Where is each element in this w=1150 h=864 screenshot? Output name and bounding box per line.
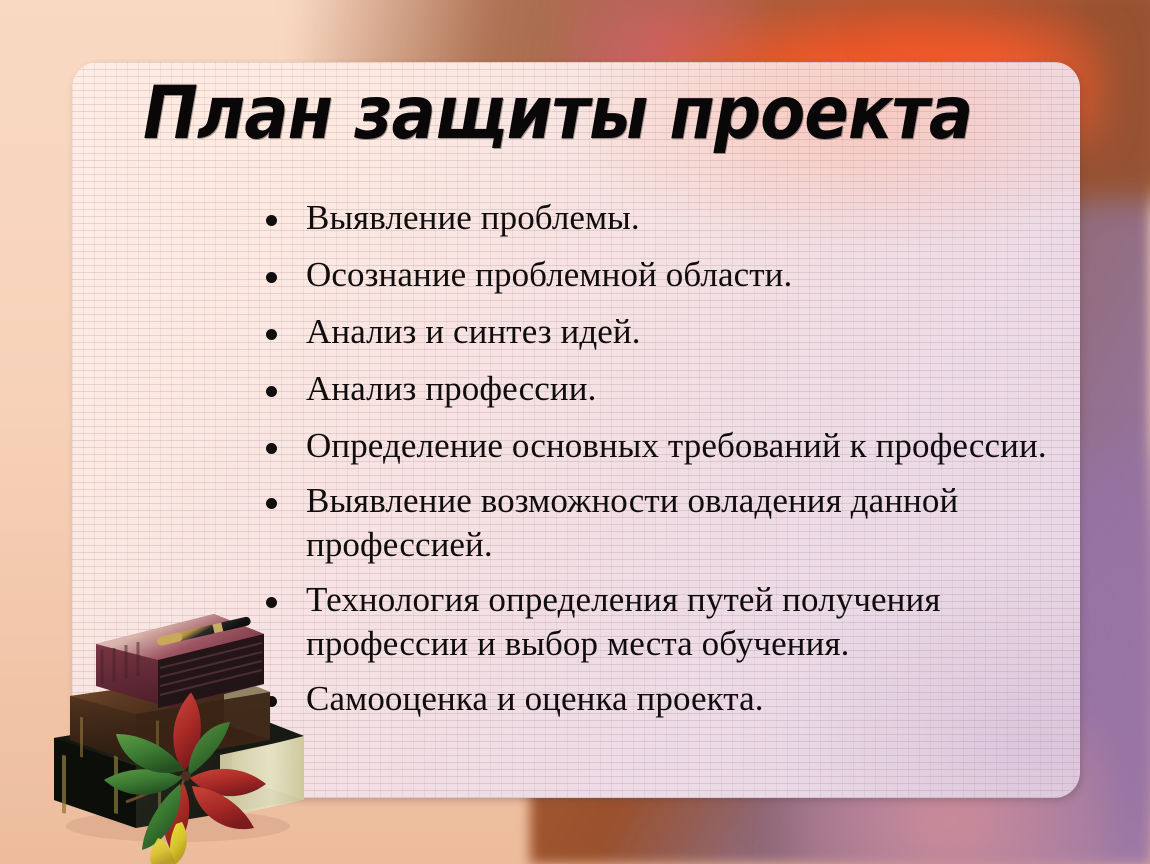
books-and-leaves-illustration (18, 588, 318, 864)
bullet-item-4: Анализ профессии. (258, 367, 1068, 411)
slide-title: План защиты проекта (143, 72, 944, 156)
bullet-item-2: Осознание проблемной области. (258, 253, 1068, 297)
bullet-item-6: Выявление возможности овладения данной п… (258, 479, 1068, 567)
bullet-item-8: Самооценка и оценка проекта. (258, 677, 1068, 721)
bullet-list: Выявление проблемы. Осознание проблемной… (258, 196, 1068, 734)
bullet-item-5: Определение основных требований к профес… (258, 424, 1068, 468)
spine-gold-line-1 (62, 755, 66, 814)
presentation-slide: План защиты проекта Выявление проблемы. … (0, 0, 1150, 864)
branch-node (181, 771, 191, 781)
bullet-item-1: Выявление проблемы. (258, 196, 1068, 240)
bullet-item-7: Технология определения путей получения п… (258, 578, 1068, 666)
bullet-item-3: Анализ и синтез идей. (258, 310, 1068, 354)
